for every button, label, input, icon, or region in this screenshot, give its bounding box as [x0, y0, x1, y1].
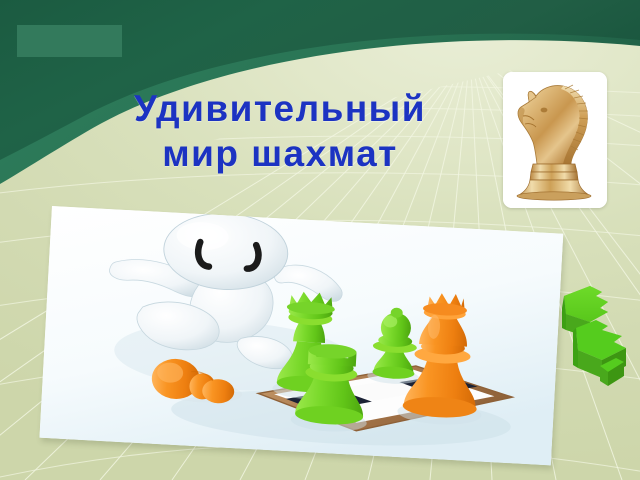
main-photo: White 3D cartoon character sitting behin…	[52, 206, 572, 468]
presentation-slide: Удивительный мир шахмат Golden chess kni…	[0, 0, 640, 480]
chess-scene-illustration	[39, 206, 563, 465]
header-accent-rectangle	[17, 25, 122, 57]
slide-title: Удивительный мир шахмат	[60, 86, 500, 176]
knight-image-card: Golden chess knight piece	[503, 72, 607, 208]
chess-knight-icon	[503, 72, 607, 208]
